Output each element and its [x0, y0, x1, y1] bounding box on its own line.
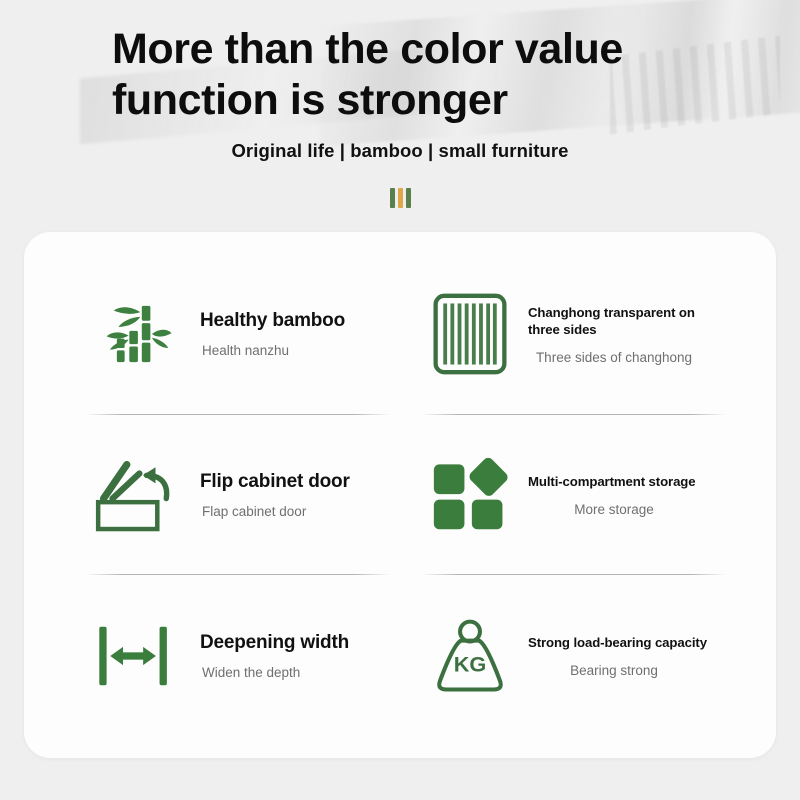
feature-item-multi-compartment-storage[interactable]: Multi-compartment storage More storage [422, 415, 726, 576]
feature-text: Strong load-bearing capacity Bearing str… [518, 634, 720, 678]
feature-subtitle: Health nanzhu [200, 343, 384, 358]
promo-page: More than the color value function is st… [0, 0, 800, 800]
feature-text: Flip cabinet door Flap cabinet door [182, 471, 384, 519]
feature-item-healthy-bamboo[interactable]: Healthy bamboo Health nanzhu [86, 254, 390, 415]
feature-title: Strong load-bearing capacity [528, 634, 720, 652]
page-title-line-1: More than the color value [112, 24, 752, 75]
hero-banner: More than the color value function is st… [0, 0, 800, 232]
feature-text: Deepening width Widen the depth [182, 632, 384, 680]
feature-subtitle: Widen the depth [200, 665, 384, 680]
kg-icon-label: KG [454, 651, 487, 676]
kg-weight-icon: KG [422, 608, 518, 704]
bamboo-icon [86, 286, 182, 382]
divider-bar-3 [406, 188, 411, 208]
feature-text: Multi-compartment storage More storage [518, 473, 720, 517]
feature-title: Deepening width [200, 632, 384, 654]
page-title: More than the color value function is st… [112, 24, 752, 125]
page-title-line-2: function is stronger [112, 75, 752, 126]
flip-door-icon [86, 447, 182, 543]
feature-item-flip-cabinet-door[interactable]: Flip cabinet door Flap cabinet door [86, 415, 390, 576]
divider-bars [0, 188, 800, 208]
feature-subtitle: Bearing strong [528, 663, 720, 678]
divider-bar-2 [398, 188, 403, 208]
feature-title: Multi-compartment storage [528, 473, 720, 491]
feature-subtitle: Three sides of changhong [528, 350, 720, 365]
feature-subtitle: More storage [528, 502, 720, 517]
feature-title: Healthy bamboo [200, 310, 384, 332]
feature-title: Changhong transparent on three sides [528, 304, 720, 340]
four-compartment-icon [422, 447, 518, 543]
feature-item-changhong-transparent[interactable]: Changhong transparent on three sides Thr… [422, 254, 726, 415]
feature-title: Flip cabinet door [200, 471, 384, 493]
divider-bar-1 [390, 188, 395, 208]
feature-text: Changhong transparent on three sides Thr… [518, 304, 720, 366]
striped-panel-icon [422, 286, 518, 382]
feature-text: Healthy bamboo Health nanzhu [182, 310, 384, 358]
feature-grid: Healthy bamboo Health nanzhu [86, 254, 726, 736]
feature-item-deepening-width[interactable]: Deepening width Widen the depth [86, 575, 390, 736]
feature-card: Healthy bamboo Health nanzhu [24, 232, 776, 758]
feature-item-load-bearing-capacity[interactable]: KG Strong load-bearing capacity Bearing … [422, 575, 726, 736]
page-subtitle: Original life | bamboo | small furniture [0, 140, 800, 162]
feature-subtitle: Flap cabinet door [200, 504, 384, 519]
width-arrow-icon [86, 608, 182, 704]
